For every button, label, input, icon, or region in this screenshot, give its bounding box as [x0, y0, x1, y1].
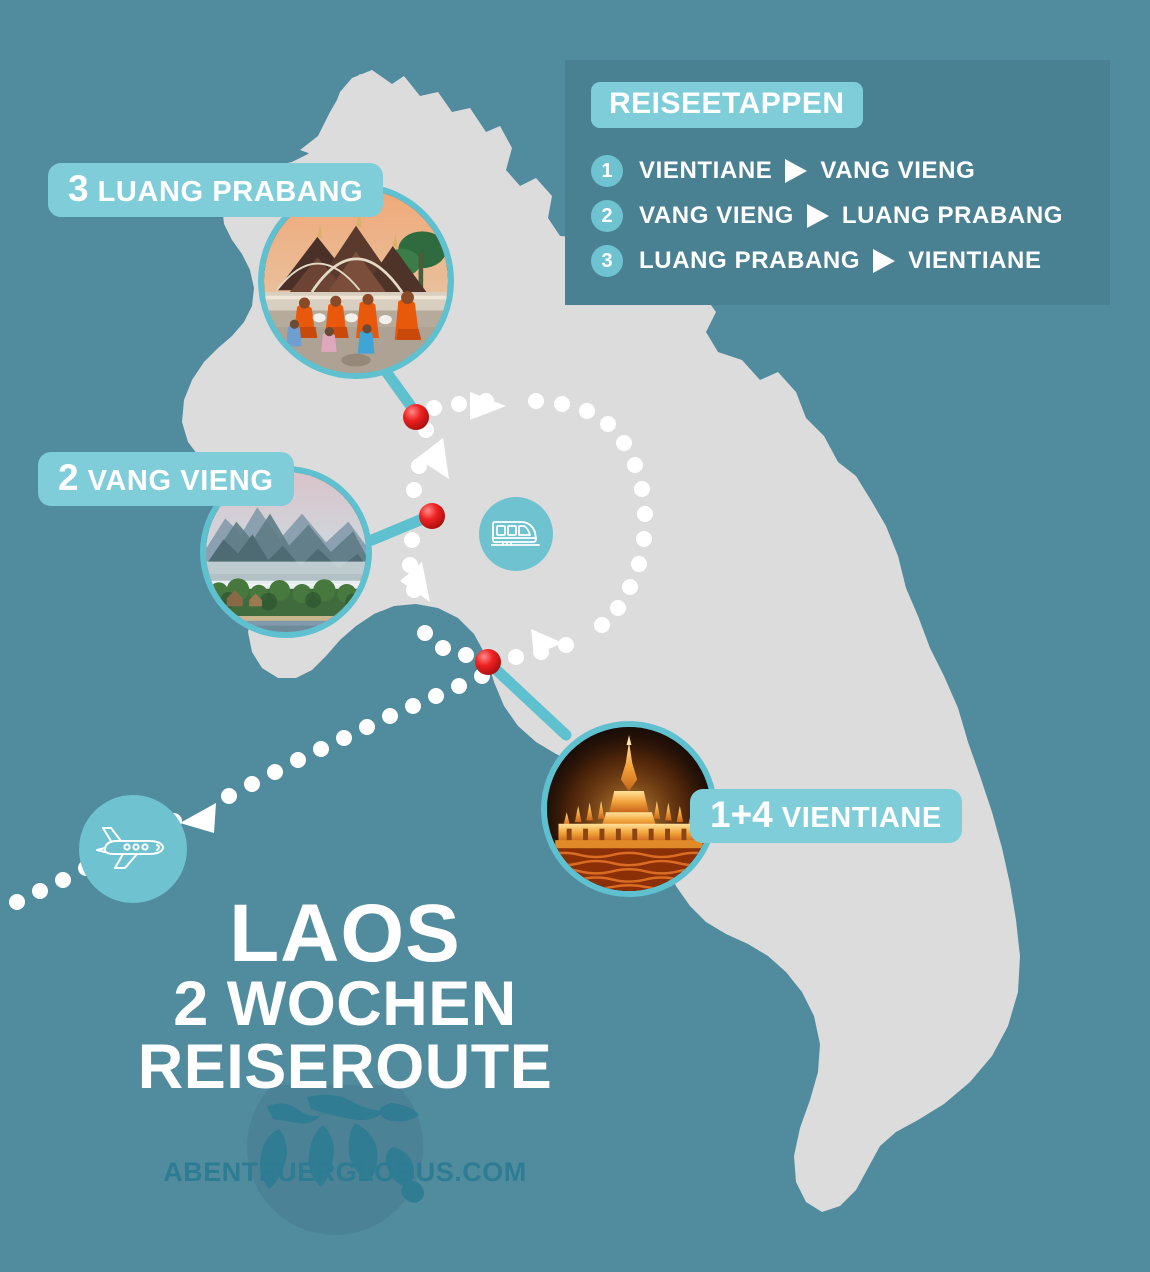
- legend-row: 2 VANG VIENG LUANG PRABANG: [591, 200, 1084, 232]
- city-label-name: VIENTIANE: [782, 804, 942, 833]
- city-label-vang-vieng: 2 VANG VIENG: [38, 452, 294, 506]
- golden-stupa-night-photo: [547, 727, 711, 891]
- legend-title: REISEETAPPEN: [591, 82, 863, 128]
- legend-to: VIENTIANE: [908, 247, 1041, 275]
- pin-luang-prabang: [403, 404, 429, 430]
- bus-icon: [491, 514, 541, 554]
- city-label-number: 1+4: [710, 796, 773, 833]
- flight-route-dotted-path: [9, 668, 490, 910]
- title-block: LAOS 2 WOCHEN REISEROUTE: [110, 895, 580, 1099]
- city-label-name: VANG VIENG: [88, 467, 274, 496]
- flight-direction-arrow: [180, 803, 216, 833]
- legend-badge: 2: [591, 200, 623, 232]
- city-label-name: LUANG PRABANG: [98, 178, 364, 207]
- title-country: LAOS: [110, 895, 580, 973]
- legend-row: 1 VIENTIANE VANG VIENG: [591, 155, 1084, 187]
- city-label-number: 3: [68, 170, 89, 207]
- legend-to: LUANG PRABANG: [842, 202, 1063, 230]
- bus-icon-circle: [479, 497, 553, 571]
- triangle-right-icon: [785, 159, 807, 183]
- city-label-luang-prabang: 3 LUANG PRABANG: [48, 163, 383, 217]
- airplane-icon-circle: [79, 795, 187, 903]
- legend-route-text: VIENTIANE VANG VIENG: [639, 157, 975, 185]
- city-label-number: 2: [58, 459, 79, 496]
- pin-vientiane: [475, 649, 501, 675]
- pin-vang-vieng: [419, 503, 445, 529]
- triangle-right-icon: [873, 249, 895, 273]
- airplane-icon: [95, 820, 171, 878]
- legend-from: LUANG PRABANG: [639, 247, 860, 275]
- brand-watermark-text: ABENTEUERGLOBUS.COM: [110, 1157, 580, 1188]
- legend-row: 3 LUANG PRABANG VIENTIANE: [591, 245, 1084, 277]
- legend-from: VANG VIENG: [639, 202, 794, 230]
- legend-badge: 3: [591, 245, 623, 277]
- triangle-right-icon: [807, 204, 829, 228]
- legend-from: VIENTIANE: [639, 157, 772, 185]
- legend-route-text: LUANG PRABANG VIENTIANE: [639, 247, 1042, 275]
- city-label-vientiane: 1+4 VIENTIANE: [690, 789, 962, 843]
- infographic-canvas: REISEETAPPEN 1 VIENTIANE VANG VIENG 2 VA…: [0, 0, 1150, 1272]
- legend-route-text: VANG VIENG LUANG PRABANG: [639, 202, 1063, 230]
- legend-to: VANG VIENG: [820, 157, 975, 185]
- title-duration: 2 WOCHEN: [110, 973, 580, 1036]
- legend-badge: 1: [591, 155, 623, 187]
- title-subject: REISEROUTE: [110, 1036, 580, 1099]
- legend-panel: REISEETAPPEN 1 VIENTIANE VANG VIENG 2 VA…: [565, 60, 1110, 305]
